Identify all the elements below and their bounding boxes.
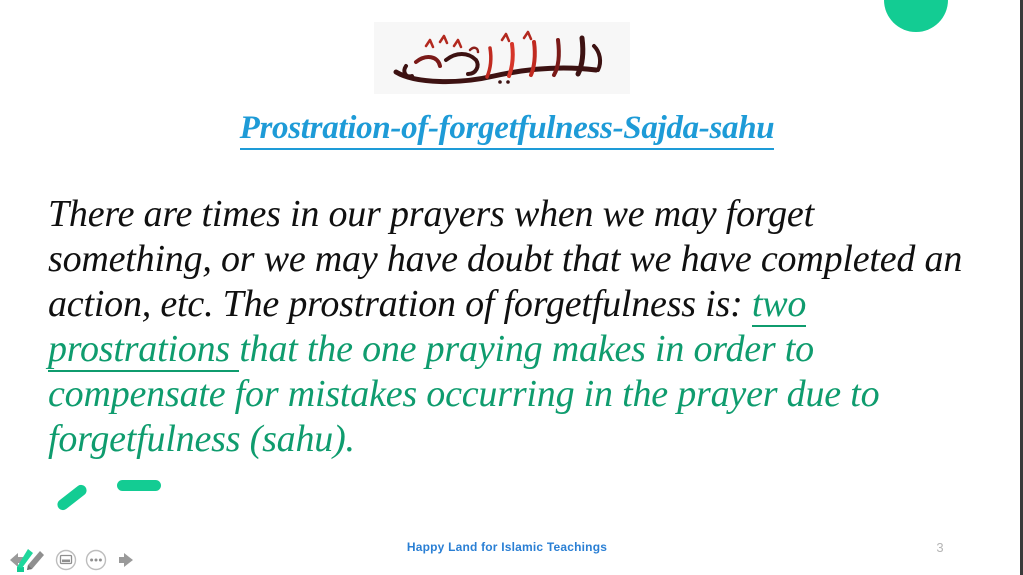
next-slide-arrow[interactable] bbox=[114, 548, 138, 572]
page-number: 3 bbox=[920, 540, 960, 555]
body-segment-green-italic-sahu: sahu bbox=[262, 418, 333, 460]
slide-view-button[interactable] bbox=[54, 548, 78, 572]
pen-tools-group[interactable] bbox=[6, 547, 48, 573]
highlighter-diagonal-mark bbox=[55, 483, 89, 513]
slide-title: Prostration-of-forgetfulness-Sajda-sahu bbox=[0, 108, 1014, 148]
slide-canvas: Prostration-of-forgetfulness-Sajda-sahu … bbox=[0, 0, 1023, 575]
highlighter-flat-mark bbox=[117, 480, 161, 491]
more-options-button[interactable] bbox=[84, 548, 108, 572]
bismillah-calligraphy-image bbox=[374, 22, 630, 94]
body-segment-black: There are times in our prayers when we m… bbox=[48, 193, 962, 325]
highlighter-circle-mark bbox=[884, 0, 948, 32]
body-segment-green-end: ). bbox=[333, 418, 355, 460]
presentation-toolbar[interactable] bbox=[6, 547, 138, 573]
slide-title-text: Prostration-of-forgetfulness-Sajda-sahu bbox=[240, 110, 775, 150]
footer-credit: Happy Land for Islamic Teachings bbox=[0, 540, 1014, 554]
slide-body-text: There are times in our prayers when we m… bbox=[48, 192, 978, 462]
